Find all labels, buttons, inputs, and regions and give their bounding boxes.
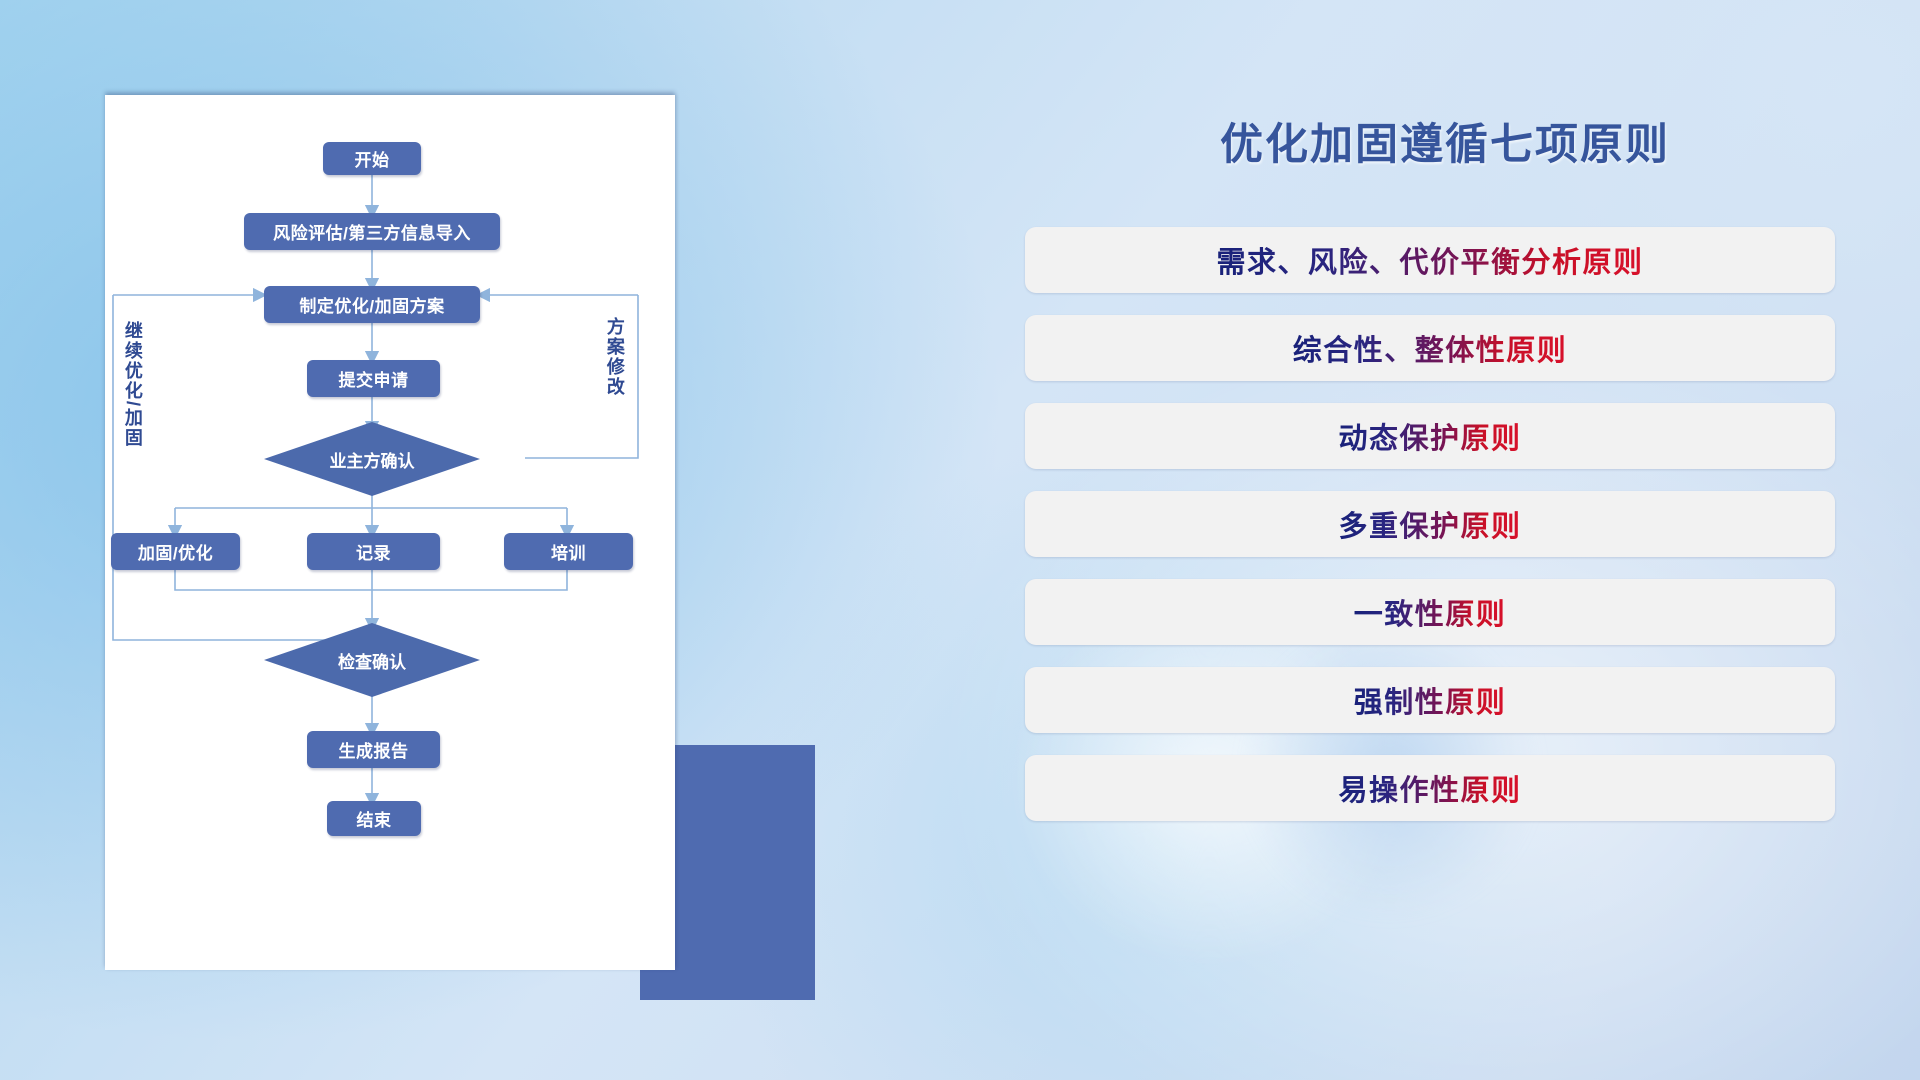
flow-node-label: 制定优化/加固方案 xyxy=(299,292,444,317)
principle-card-label: 一致性原则 xyxy=(1354,591,1507,633)
flow-edge-label-continue-optimize: 继续优化/加固 xyxy=(123,321,142,448)
principle-card-label: 综合性、整体性原则 xyxy=(1293,327,1568,369)
flow-node-record[interactable]: 记录 xyxy=(307,533,440,570)
flow-node-generate-report[interactable]: 生成报告 xyxy=(307,731,440,768)
flow-node-label: 业主方确认 xyxy=(330,447,415,472)
principle-card[interactable]: 多重保护原则 xyxy=(1025,491,1835,557)
flow-node-start[interactable]: 开始 xyxy=(323,142,421,175)
principle-card-label: 多重保护原则 xyxy=(1338,503,1521,545)
principle-card[interactable]: 综合性、整体性原则 xyxy=(1025,315,1835,381)
flowchart-panel: 开始 风险评估/第三方信息导入 制定优化/加固方案 提交申请 业主方确认 加固/… xyxy=(105,95,675,970)
principle-card-label: 需求、风险、代价平衡分析原则 xyxy=(1216,239,1643,281)
flow-edge-label-plan-revision: 方案修改 xyxy=(605,317,624,397)
flow-node-reinforce[interactable]: 加固/优化 xyxy=(111,533,240,570)
principle-card[interactable]: 强制性原则 xyxy=(1025,667,1835,733)
flow-node-label: 开始 xyxy=(355,146,390,171)
flow-node-plan[interactable]: 制定优化/加固方案 xyxy=(264,286,480,323)
principle-card-label: 易操作性原则 xyxy=(1338,767,1521,809)
flow-node-label: 记录 xyxy=(356,539,391,564)
principle-card[interactable]: 一致性原则 xyxy=(1025,579,1835,645)
flow-node-label: 加固/优化 xyxy=(138,539,213,564)
flow-node-label: 提交申请 xyxy=(339,366,409,391)
flow-node-submit-application[interactable]: 提交申请 xyxy=(307,360,440,397)
flow-node-risk-assessment[interactable]: 风险评估/第三方信息导入 xyxy=(244,213,500,250)
flow-node-inspection-confirm[interactable]: 检查确认 xyxy=(264,623,480,697)
principle-card[interactable]: 需求、风险、代价平衡分析原则 xyxy=(1025,227,1835,293)
flow-node-label: 培训 xyxy=(551,539,586,564)
flow-node-label: 风险评估/第三方信息导入 xyxy=(273,219,471,244)
flow-node-owner-confirm[interactable]: 业主方确认 xyxy=(264,422,480,496)
principles-card-list: 需求、风险、代价平衡分析原则 综合性、整体性原则 动态保护原则 多重保护原则 一… xyxy=(1025,227,1835,843)
flow-node-training[interactable]: 培训 xyxy=(504,533,633,570)
flow-node-end[interactable]: 结束 xyxy=(327,801,421,836)
principle-card-label: 动态保护原则 xyxy=(1338,415,1521,457)
flow-node-label: 生成报告 xyxy=(339,737,409,762)
flow-node-label: 结束 xyxy=(357,806,392,831)
principles-title: 优化加固遵循七项原则 xyxy=(1055,110,1835,172)
principle-card[interactable]: 动态保护原则 xyxy=(1025,403,1835,469)
principle-card-label: 强制性原则 xyxy=(1354,679,1507,721)
principle-card[interactable]: 易操作性原则 xyxy=(1025,755,1835,821)
flow-node-label: 检查确认 xyxy=(338,648,406,673)
